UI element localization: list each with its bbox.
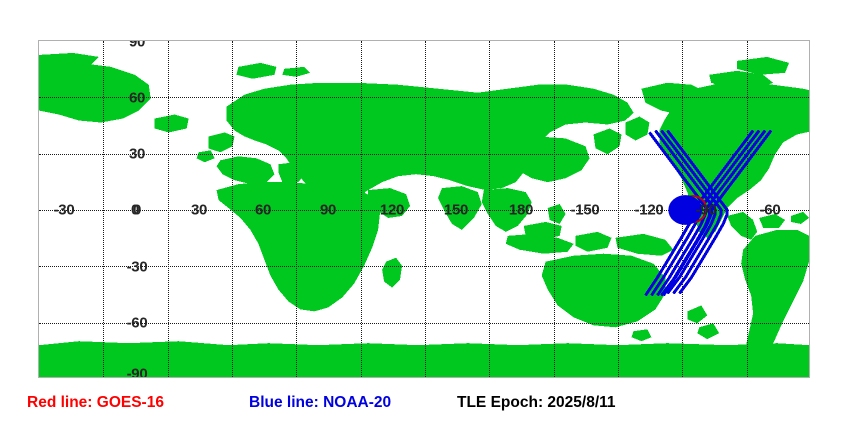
land-polygons bbox=[39, 53, 809, 377]
lat-tick-label: 30 bbox=[129, 147, 145, 162]
lon-tick-label: 120 bbox=[380, 203, 404, 218]
lon-tick-label: -90 bbox=[696, 203, 717, 218]
lon-tick-label: 30 bbox=[191, 203, 207, 218]
lat-tick-label: -30 bbox=[127, 260, 148, 275]
lat-tick-label: -60 bbox=[127, 316, 148, 331]
lat-tick-label: 90 bbox=[129, 40, 145, 50]
lon-tick-label: 90 bbox=[320, 203, 336, 218]
lon-tick-label: 180 bbox=[509, 203, 533, 218]
map-plot-area: -30 0 30 60 90 120 150 180 -150 -120 -90… bbox=[38, 40, 810, 378]
lat-tick-label: 60 bbox=[129, 91, 145, 106]
lon-tick-label: -60 bbox=[760, 203, 781, 218]
lon-tick-label: -120 bbox=[635, 203, 664, 218]
legend-tle-epoch: TLE Epoch: 2025/8/11 bbox=[457, 395, 616, 411]
legend: Red line: GOES-16 Blue line: NOAA-20 TLE… bbox=[0, 392, 850, 420]
lon-tick-label: -150 bbox=[571, 203, 600, 218]
lat-tick-label: 0 bbox=[133, 203, 141, 218]
lat-tick-label: -90 bbox=[127, 367, 148, 379]
legend-goes16: Red line: GOES-16 bbox=[27, 395, 164, 411]
lon-tick-label: 60 bbox=[255, 203, 271, 218]
world-landmass-layer bbox=[39, 41, 809, 377]
satellite-ground-track-map: -30 0 30 60 90 120 150 180 -150 -120 -90… bbox=[0, 0, 850, 425]
lon-tick-label: 150 bbox=[444, 203, 468, 218]
legend-noaa20: Blue line: NOAA-20 bbox=[249, 395, 391, 411]
lon-tick-label: -30 bbox=[54, 203, 75, 218]
